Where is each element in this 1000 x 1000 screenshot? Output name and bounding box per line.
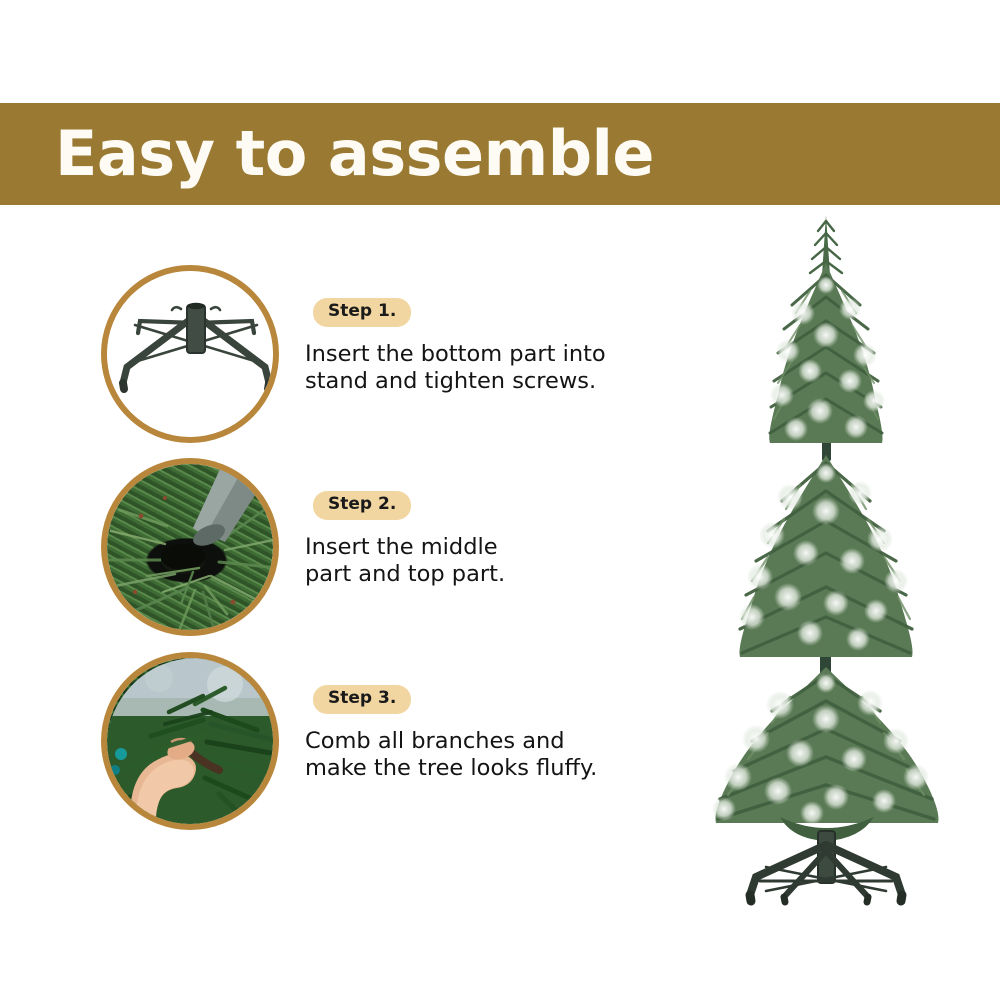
step-line: stand and tighten screws. (305, 368, 635, 395)
list-item: Step 1. Insert the bottom part into stan… (0, 265, 640, 455)
step-description: Insert the middle part and top part. (305, 534, 635, 589)
step-2-photo (101, 458, 279, 636)
step-badge: Step 3. (313, 685, 411, 714)
product-tree-image (660, 205, 1000, 1000)
hand-fluffing-illustration (107, 658, 273, 824)
step-description: Comb all branches and make the tree look… (305, 728, 635, 783)
step-line: Comb all branches and (305, 728, 635, 755)
step-badge: Step 2. (313, 491, 411, 520)
tree-section-middle (739, 455, 913, 657)
step-description: Insert the bottom part into stand and ti… (305, 341, 635, 396)
list-item: Step 3. Comb all branches and make the t… (0, 652, 640, 842)
step-line: Insert the middle (305, 534, 635, 561)
tree-stand-illustration (107, 271, 273, 437)
page-title: Easy to assemble (55, 123, 654, 185)
list-item: Step 2. Insert the middle part and top p… (0, 458, 640, 648)
pole-socket-photo (107, 464, 273, 630)
infographic-page: Easy to assemble (0, 0, 1000, 1000)
steps-list: Step 1. Insert the bottom part into stan… (0, 205, 640, 905)
tree-section-top (769, 215, 885, 443)
step-line: make the tree looks fluffy. (305, 755, 635, 782)
tree-stand (750, 831, 902, 902)
pole-socket-illustration (107, 464, 273, 630)
hand-fluffing-photo (107, 658, 273, 824)
step-1-photo (101, 265, 279, 443)
step-3-photo (101, 652, 279, 830)
step-line: Insert the bottom part into (305, 341, 635, 368)
tree-stand-photo (107, 271, 273, 437)
step-line: part and top part. (305, 561, 635, 588)
christmas-tree-illustration (660, 205, 1000, 1000)
header-band: Easy to assemble (0, 103, 1000, 205)
tree-section-bottom (712, 667, 938, 841)
step-badge: Step 1. (313, 298, 411, 327)
